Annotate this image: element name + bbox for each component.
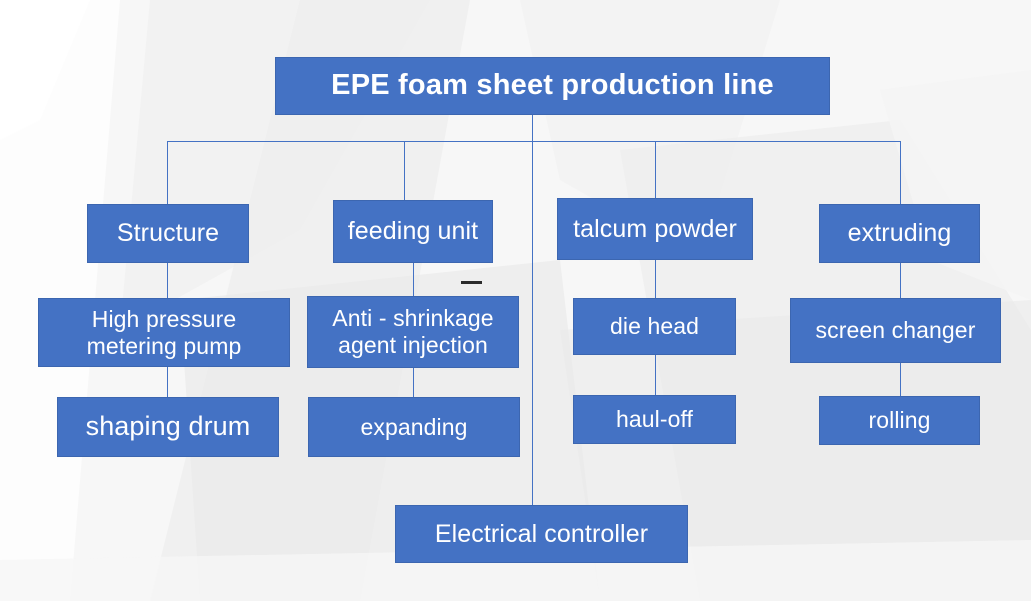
node-screen-changer-label: screen changer [791,317,1000,344]
node-shaping-drum[interactable]: shaping drum [57,397,279,457]
diagram-canvas: EPE foam sheet production line Structure… [0,0,1031,601]
connector-horizontal-bus [167,141,901,142]
connector-drop-structure [167,141,168,204]
node-title-label: EPE foam sheet production line [276,69,829,103]
node-structure[interactable]: Structure [87,204,249,263]
node-extruding-label: extruding [820,219,979,248]
node-talcum-powder[interactable]: talcum powder [557,198,753,260]
node-feeding-unit[interactable]: feeding unit [333,200,493,263]
connector-drop-feeding [404,141,405,200]
node-shaping-drum-label: shaping drum [58,411,278,442]
node-expanding-label: expanding [309,414,519,441]
node-electrical-controller[interactable]: Electrical controller [395,505,688,563]
node-talcum-powder-label: talcum powder [558,215,752,244]
node-haul-off[interactable]: haul-off [573,395,736,444]
node-anti-shrinkage-agent-injection-label: Anti - shrinkage agent injection [308,305,518,358]
node-structure-label: Structure [88,219,248,248]
node-rolling-label: rolling [820,407,979,434]
connector-pump-to-shaping-drum [167,367,168,397]
node-screen-changer[interactable]: screen changer [790,298,1001,363]
connector-talcum-to-die-head [655,260,656,298]
node-feeding-unit-label: feeding unit [334,217,492,246]
connector-feeding-to-anti-shrinkage [413,263,414,296]
connector-die-head-to-haul-off [655,355,656,395]
node-electrical-controller-label: Electrical controller [396,520,687,549]
node-title[interactable]: EPE foam sheet production line [275,57,830,115]
node-anti-shrinkage-agent-injection[interactable]: Anti - shrinkage agent injection [307,296,519,368]
node-die-head[interactable]: die head [573,298,736,355]
node-die-head-label: die head [574,313,735,340]
node-high-pressure-metering-pump-label: High pressure metering pump [39,306,289,359]
connector-drop-talcum [655,141,656,198]
node-expanding[interactable]: expanding [308,397,520,457]
stray-dash-mark [461,281,482,284]
connector-structure-to-pump [167,263,168,298]
connector-controller-spine [532,141,533,505]
node-rolling[interactable]: rolling [819,396,980,445]
connector-extruding-to-screen-changer [900,263,901,298]
connector-anti-shrinkage-to-expanding [413,368,414,397]
connector-title-stem [532,115,533,142]
node-extruding[interactable]: extruding [819,204,980,263]
node-haul-off-label: haul-off [574,406,735,433]
connector-screen-changer-to-rolling [900,363,901,396]
connector-drop-extruding [900,141,901,204]
node-high-pressure-metering-pump[interactable]: High pressure metering pump [38,298,290,367]
